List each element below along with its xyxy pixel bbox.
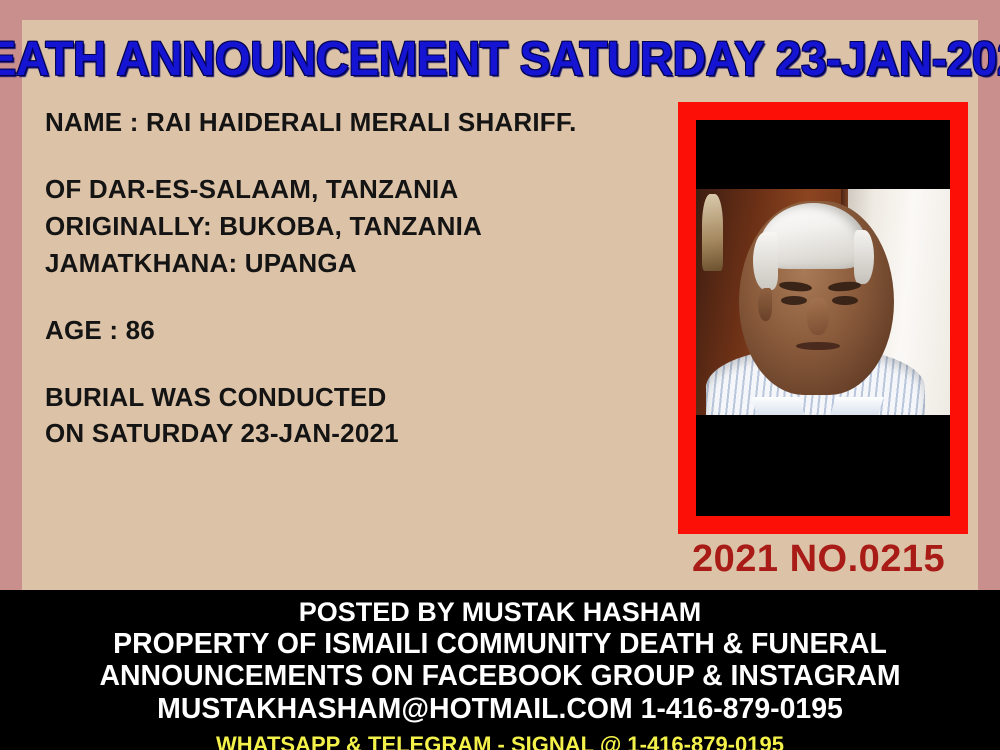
portrait-letterbox (696, 120, 950, 516)
collar-right (830, 397, 883, 415)
origin-line: ORIGINALLY: BUKOBA, TANZANIA (45, 208, 645, 245)
footer-line-posted-by: POSTED BY MUSTAK HASHAM (0, 597, 1000, 628)
footer-line-contact: MUSTAKHASHAM@HOTMAIL.COM 1-416-879-0195 (10, 693, 990, 726)
eyebrow-left (779, 280, 812, 292)
deceased-details: NAME : RAI HAIDERALI MERALI SHARIFF. OF … (45, 104, 645, 452)
name-block: NAME : RAI HAIDERALI MERALI SHARIFF. (45, 104, 645, 141)
burial-block: BURIAL WAS CONDUCTED ON SATURDAY 23-JAN-… (45, 379, 645, 453)
hair-left-side (753, 232, 778, 290)
page-title: DEATH ANNOUNCEMENT SATURDAY 23-JAN-2021 (41, 28, 959, 90)
age-line: AGE : 86 (45, 312, 645, 349)
footer-line-whatsapp: WHATSAPP & TELEGRAM - SIGNAL @ 1-416-879… (0, 733, 1000, 750)
hair-right-side (854, 230, 874, 284)
burial-line-2: ON SATURDAY 23-JAN-2021 (45, 415, 645, 452)
announcement-serial-number: 2021 NO.0215 (692, 538, 972, 581)
burial-line-1: BURIAL WAS CONDUCTED (45, 379, 645, 416)
death-announcement-poster: DEATH ANNOUNCEMENT SATURDAY 23-JAN-2021 … (0, 0, 1000, 750)
footer-line-property: PROPERTY OF ISMAILI COMMUNITY DEATH & FU… (10, 628, 990, 661)
name-line: NAME : RAI HAIDERALI MERALI SHARIFF. (45, 104, 645, 141)
eyebrow-right (827, 281, 860, 293)
mouth (796, 342, 839, 350)
portrait-photo (696, 189, 950, 415)
footer-credits: POSTED BY MUSTAK HASHAM PROPERTY OF ISMA… (0, 590, 1000, 750)
age-block: AGE : 86 (45, 312, 645, 349)
location-block: OF DAR-ES-SALAAM, TANZANIA ORIGINALLY: B… (45, 171, 645, 282)
nose (807, 298, 829, 335)
eye-right (832, 296, 858, 306)
portrait-frame (678, 102, 968, 534)
collar-left (752, 397, 805, 415)
ear (758, 288, 772, 321)
eye-left (781, 296, 807, 306)
jamatkhana-line: JAMATKHANA: UPANGA (45, 245, 645, 282)
footer-line-announcements: ANNOUNCEMENTS ON FACEBOOK GROUP & INSTAG… (10, 660, 990, 693)
residence-line: OF DAR-ES-SALAAM, TANZANIA (45, 171, 645, 208)
face (739, 201, 894, 395)
